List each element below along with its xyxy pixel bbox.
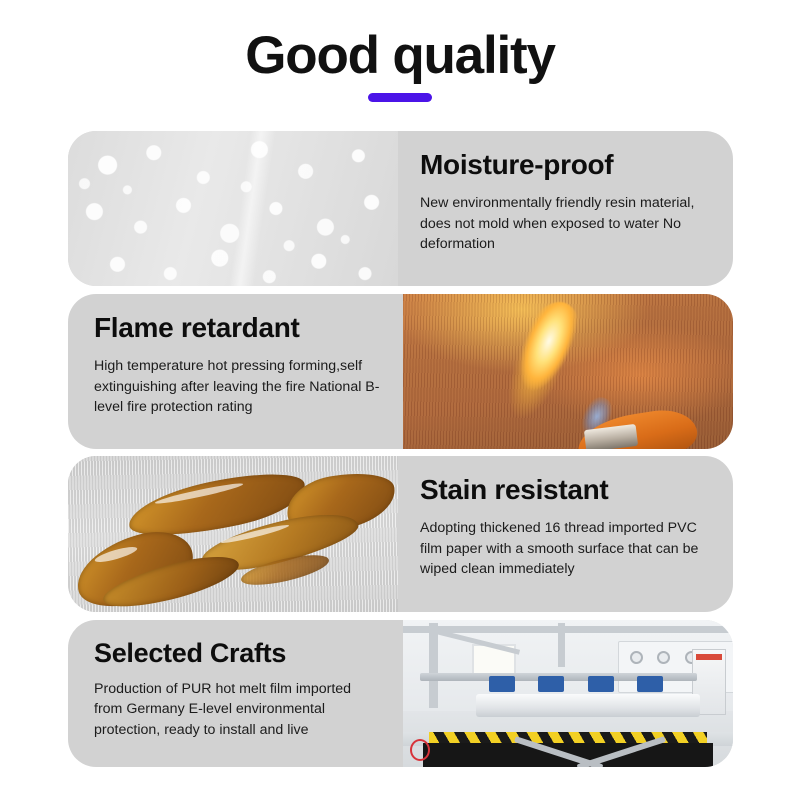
water-droplets-photo <box>68 131 398 286</box>
feature-card-selected-crafts: Selected Crafts Production of PUR hot me… <box>68 620 733 767</box>
feature-description: New environmentally friendly resin mater… <box>420 193 711 255</box>
gantry-column <box>558 623 565 667</box>
feature-title: Moisture-proof <box>420 150 711 181</box>
feature-card-flame-retardant: Flame retardant High temperature hot pre… <box>68 294 733 449</box>
feature-description: Adopting thickened 16 thread imported PV… <box>420 518 711 580</box>
feature-card-text: Stain resistant Adopting thickened 16 th… <box>398 456 733 612</box>
title-underline-accent <box>368 93 432 102</box>
feature-title: Stain resistant <box>420 475 711 506</box>
feature-card-moisture-proof: Moisture-proof New environmentally frien… <box>68 131 733 286</box>
vacuum-gripper <box>637 676 663 692</box>
vacuum-gripper <box>588 676 614 692</box>
feature-card-text: Flame retardant High temperature hot pre… <box>68 294 403 449</box>
panel-gauge-icon <box>630 651 643 664</box>
feature-description: Production of PUR hot melt film imported… <box>94 679 381 741</box>
gantry-beam <box>403 626 733 633</box>
feature-card-text: Selected Crafts Production of PUR hot me… <box>68 620 403 767</box>
feature-title: Selected Crafts <box>94 639 381 669</box>
marketing-feature-page: Good quality Moisture-proof New environm… <box>0 0 800 800</box>
feature-card-stain-resistant: Stain resistant Adopting thickened 16 th… <box>68 456 733 612</box>
panel-stack <box>476 694 700 718</box>
page-title: Good quality <box>0 28 800 84</box>
cabinet-label <box>696 654 722 660</box>
vacuum-gripper <box>489 676 515 692</box>
red-circle-marker <box>410 739 430 761</box>
gantry-column <box>429 623 438 708</box>
feature-card-text: Moisture-proof New environmentally frien… <box>398 131 733 286</box>
factory-machine-photo <box>403 620 733 767</box>
panel-gauge-icon <box>657 651 670 664</box>
flame-on-wood-photo <box>403 294 733 449</box>
page-header: Good quality <box>0 28 800 102</box>
vacuum-gripper <box>538 676 564 692</box>
feature-description: High temperature hot pressing forming,se… <box>94 356 381 418</box>
feature-title: Flame retardant <box>94 313 381 344</box>
scissor-lift <box>515 736 665 766</box>
amber-stain-photo <box>68 456 398 612</box>
